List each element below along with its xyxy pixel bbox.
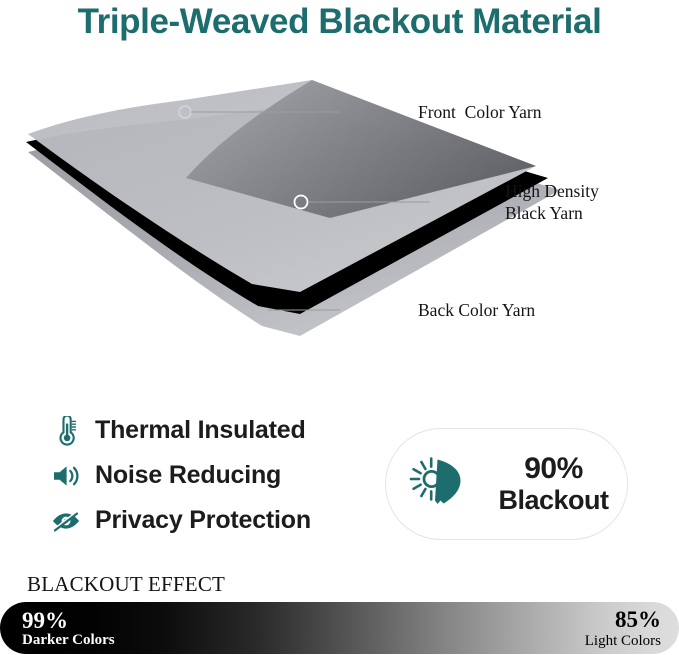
label-high-density-black-yarn: High Density Black Yarn [505,180,599,225]
speaker-sound-icon [45,463,87,489]
product-infographic: Triple-Weaved Blackout Material [0,0,679,655]
page-title: Triple-Weaved Blackout Material [0,2,679,42]
feature-label: Thermal Insulated [95,416,306,445]
blackout-badge: 90% Blackout [385,428,628,540]
feature-noise-reducing: Noise Reducing [45,453,375,498]
sun-behind-curtain-icon [386,453,488,515]
blackout-effect-gradient-bar: 99% Darker Colors 85% Light Colors [0,602,679,654]
bar-right-percent: 85% [585,608,661,633]
thermometer-icon [45,416,87,446]
bar-left-label: Darker Colors [22,633,115,649]
feature-label: Privacy Protection [95,506,311,535]
feature-list: Thermal Insulated Noise Reducing [45,408,375,543]
badge-percent: 90% [488,453,619,485]
blackout-effect-heading: BLACKOUT EFFECT [27,572,225,597]
label-back-color-yarn: Back Color Yarn [418,299,535,321]
feature-label: Noise Reducing [95,461,281,490]
feature-thermal-insulated: Thermal Insulated [45,408,375,453]
feature-privacy-protection: Privacy Protection [45,498,375,543]
bar-left-percent: 99% [22,609,115,633]
bar-right-stat: 85% Light Colors [585,608,661,649]
eye-slash-icon [45,508,87,534]
label-front-color-yarn: Front Color Yarn [418,101,542,123]
badge-text: 90% Blackout [488,453,627,515]
bar-right-label: Light Colors [585,633,661,649]
bar-left-stat: 99% Darker Colors [22,609,115,649]
badge-word: Blackout [488,486,619,515]
